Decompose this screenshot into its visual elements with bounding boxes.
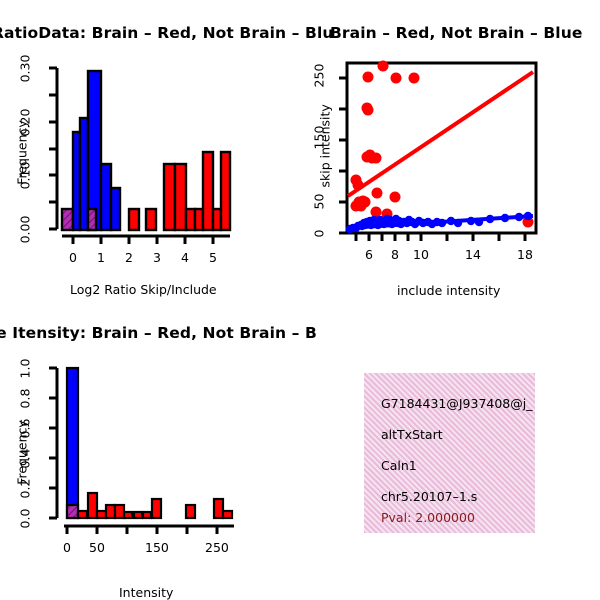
intensity-y-axis — [49, 368, 57, 518]
ratio-xtick-4: 4 — [181, 250, 189, 265]
panel-ratio-histogram: RatioData: Brain – Red, Not Brain – Blu … — [0, 0, 300, 300]
intensity-histogram-bars — [67, 368, 232, 518]
panel-intensity-scatter: Brain – Red, Not Brain – Blue skip inten… — [300, 0, 600, 300]
scatter-xtick-10: 10 — [413, 247, 429, 262]
intensity-histogram-plot — [0, 300, 300, 600]
scatter-ytick-0: 0 — [312, 221, 327, 247]
ratio-xtick-2: 2 — [125, 250, 133, 265]
scatter-xtick-18: 18 — [517, 247, 533, 262]
scatter-xtick-8: 8 — [391, 247, 399, 262]
intensity-ytick-6: 0.6 — [18, 412, 33, 446]
ratio-ytick-0: 0.00 — [18, 213, 33, 247]
ratio-x-axis — [62, 236, 230, 244]
ratio-ytick-2: 0.20 — [18, 106, 33, 140]
ratio-y-axis — [49, 68, 57, 229]
ratio-ytick-1: 0.10 — [18, 159, 33, 193]
gene-info-symbol: Caln1 — [381, 458, 417, 473]
scatter-trend-red — [348, 72, 533, 196]
scatter-points-red — [351, 61, 534, 228]
scatter-ytick-250: 250 — [312, 56, 327, 96]
intensity-ytick-2: 0.2 — [18, 472, 33, 506]
intensity-x-axis — [64, 526, 234, 534]
intensity-ytick-4: 0.4 — [18, 442, 33, 476]
ratio-histogram-plot — [0, 0, 300, 300]
ratio-xtick-0: 0 — [69, 250, 77, 265]
ratio-xtick-5: 5 — [209, 250, 217, 265]
panel-intensity-histogram: ne Itensity: Brain – Red, Not Brain – B … — [0, 300, 300, 600]
intensity-xtick-0: 0 — [63, 540, 71, 555]
scatter-xtick-6: 6 — [365, 247, 373, 262]
gene-info-pval: Pval: 2.000000 — [381, 510, 475, 525]
scatter-ytick-50: 50 — [312, 185, 327, 219]
intensity-ytick-8: 0.8 — [18, 382, 33, 416]
ratio-xtick-1: 1 — [97, 250, 105, 265]
intensity-xtick-250: 250 — [205, 540, 229, 555]
ratio-xtick-3: 3 — [153, 250, 161, 265]
intensity-ytick-10: 1.0 — [18, 352, 33, 386]
gene-info-locus: chr5.20107–1.s — [381, 489, 477, 504]
panel-gene-info: G7184431@J937408@j_ altTxStart Caln1 chr… — [364, 373, 535, 533]
scatter-plot — [300, 0, 600, 300]
intensity-xtick-50: 50 — [89, 540, 105, 555]
intensity-ytick-0: 0.0 — [18, 502, 33, 536]
ratio-histogram-bars — [62, 71, 230, 230]
gene-info-id: G7184431@J937408@j_ — [381, 396, 532, 411]
scatter-ytick-150: 150 — [312, 118, 327, 158]
gene-info-event: altTxStart — [381, 427, 443, 442]
scatter-xtick-14: 14 — [465, 247, 481, 262]
ratio-ytick-3: 0.30 — [18, 52, 33, 86]
intensity-xtick-150: 150 — [145, 540, 169, 555]
